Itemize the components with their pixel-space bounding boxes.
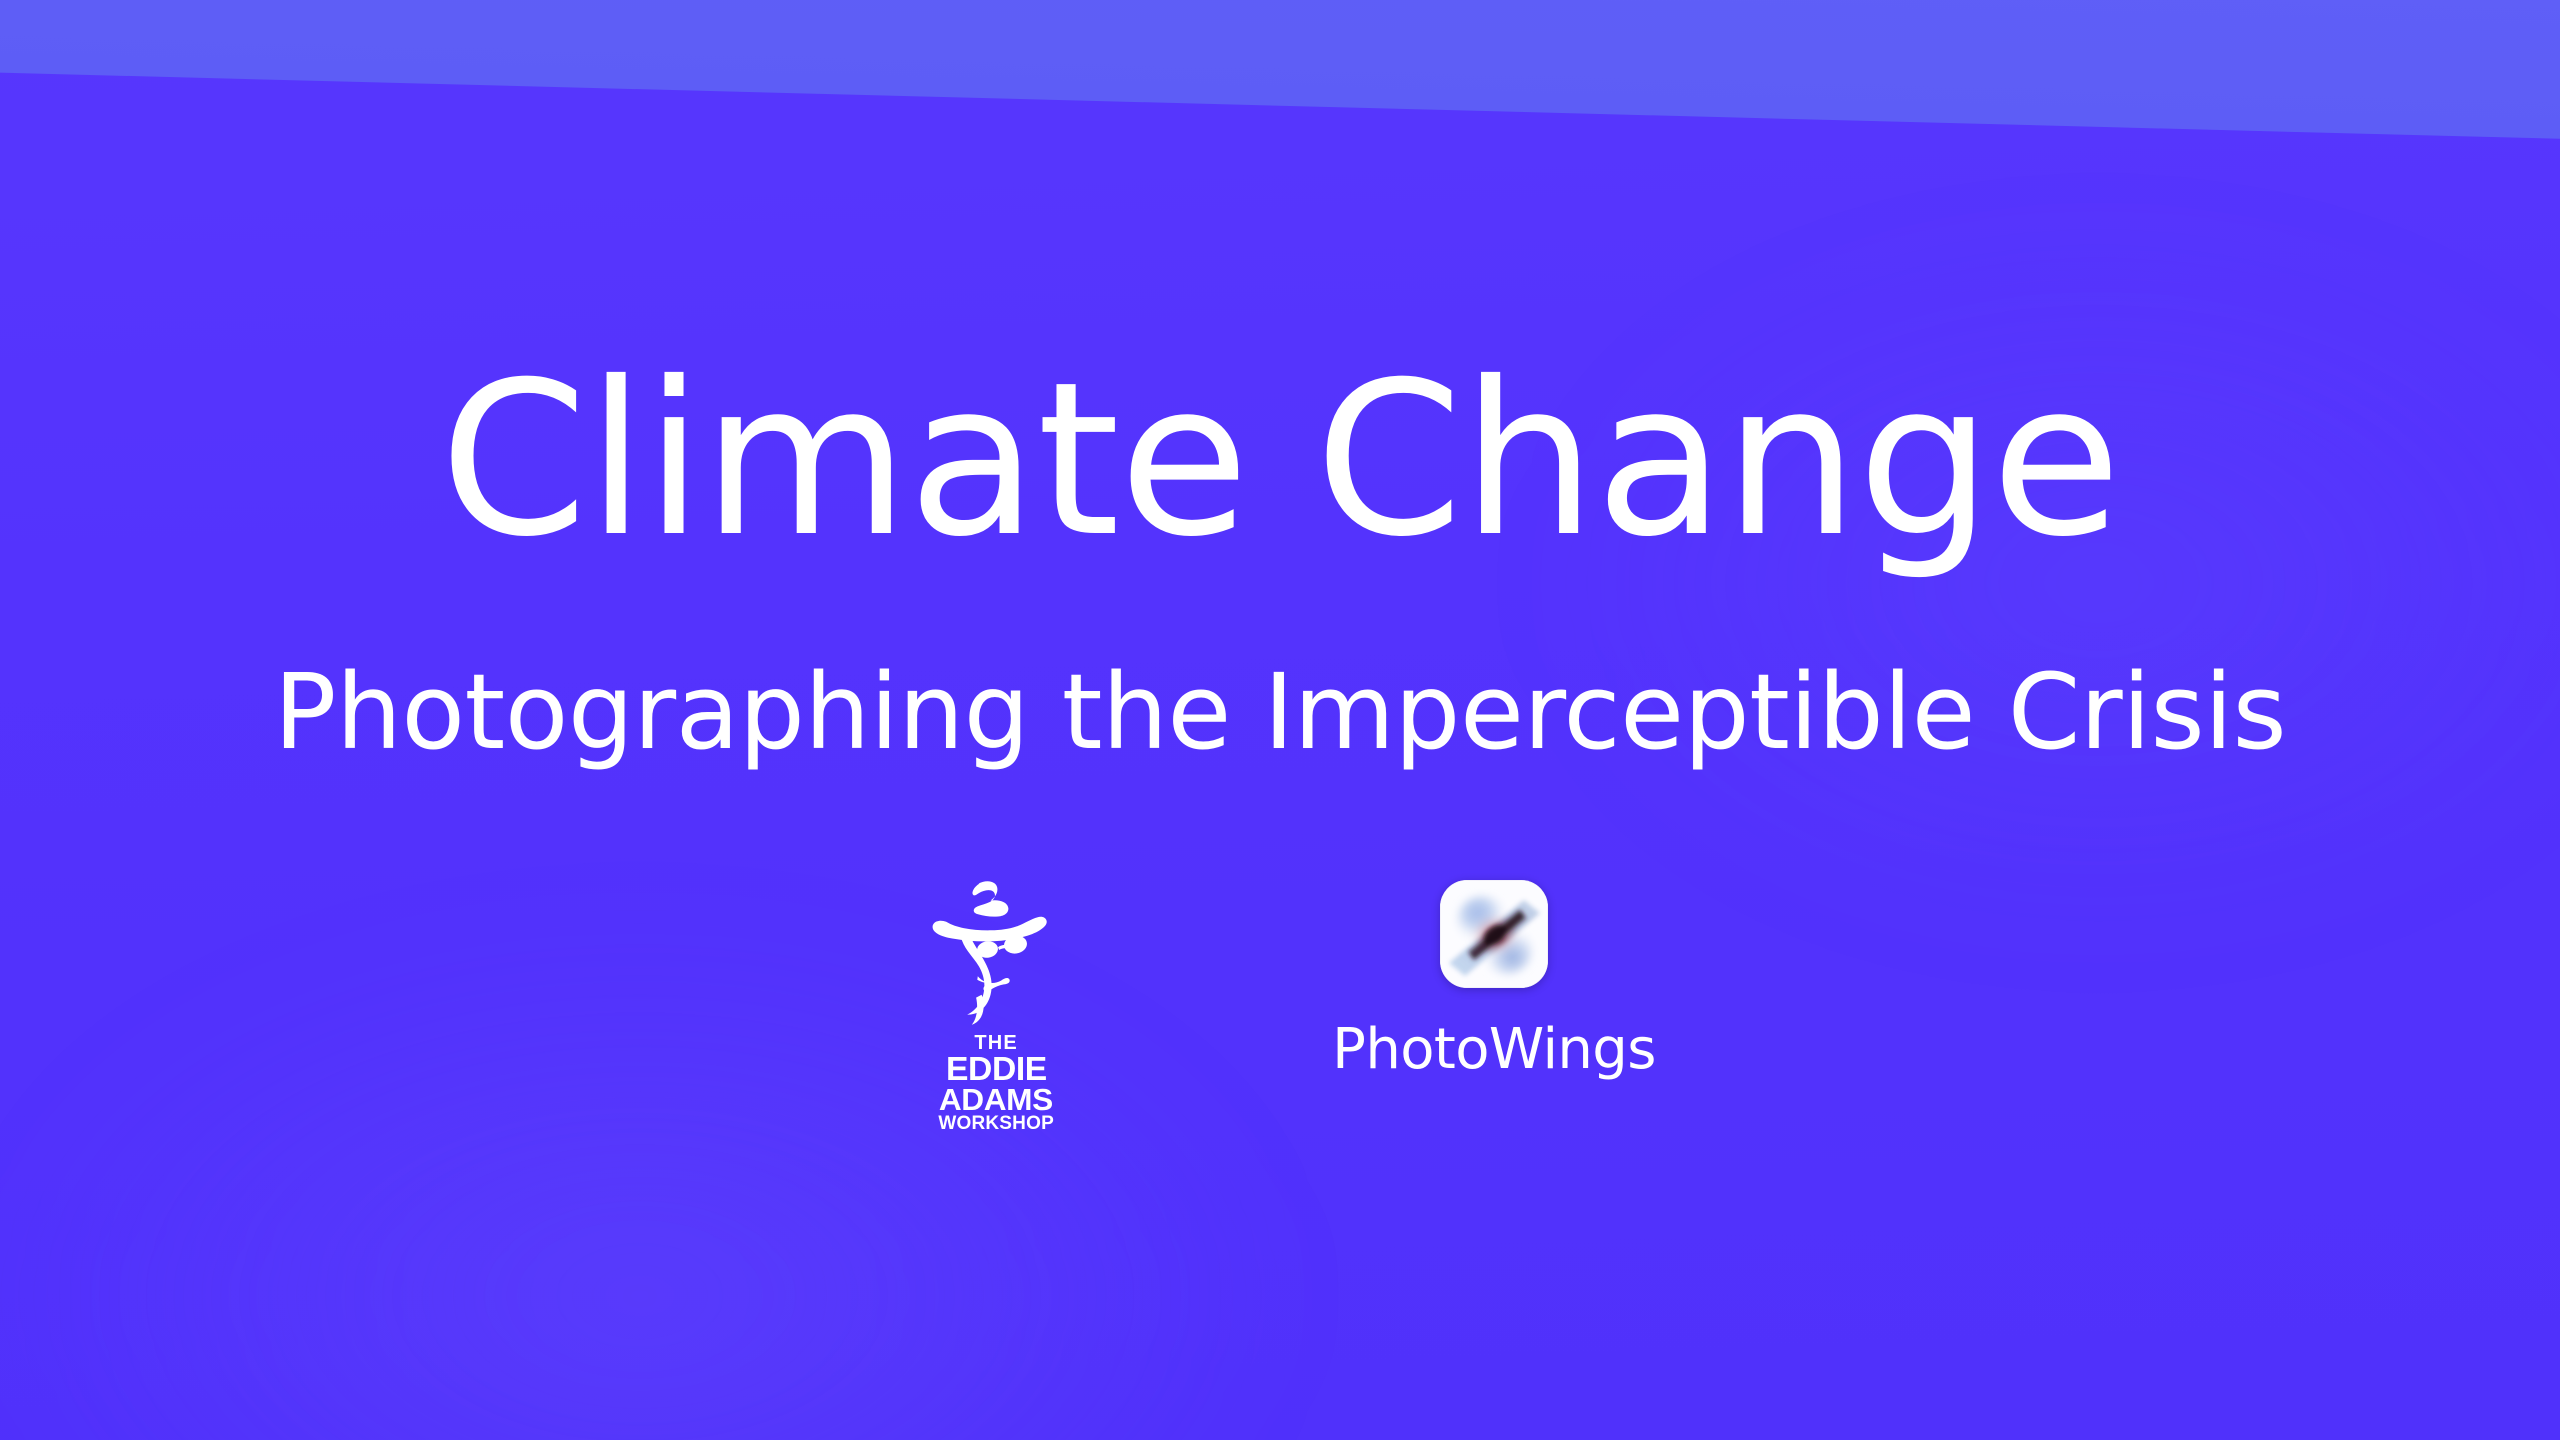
page-subtitle: Photographing the Imperceptible Crisis <box>0 655 2560 769</box>
wordmark-line-eddie: EDDIE <box>946 1053 1047 1085</box>
wordmark-line-adams: ADAMS <box>939 1085 1053 1115</box>
logo-row: THE EDDIE ADAMS WORKSHOP <box>0 880 2560 1133</box>
logo-eddie-adams-workshop: THE EDDIE ADAMS WORKSHOP <box>932 880 1060 1133</box>
logo-photowings: PhotoWings <box>1332 880 1656 1078</box>
wordmark-line-workshop: WORKSHOP <box>938 1115 1054 1133</box>
eddie-adams-wordmark: THE EDDIE ADAMS WORKSHOP <box>938 1034 1054 1133</box>
title-slide: Climate Change Photographing the Imperce… <box>0 0 2560 1440</box>
eddie-adams-face-icon <box>932 880 1060 1032</box>
photowings-butterfly-icon <box>1440 880 1548 988</box>
page-title: Climate Change <box>0 352 2560 568</box>
slide-content: Climate Change Photographing the Imperce… <box>0 0 2560 1440</box>
photowings-label: PhotoWings <box>1332 1022 1656 1078</box>
